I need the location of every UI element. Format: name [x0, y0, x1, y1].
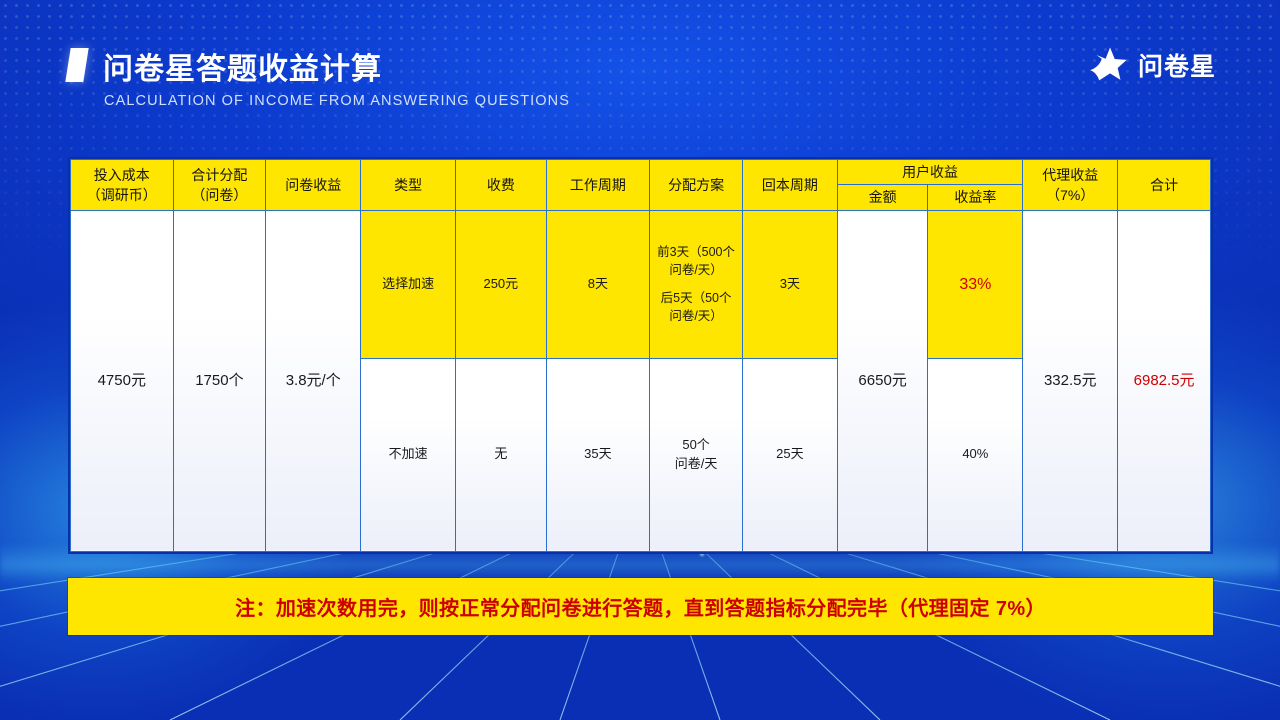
th-agent-income-line2: （7%） — [1046, 187, 1094, 203]
th-work-cycle: 工作周期 — [546, 160, 650, 211]
th-user-income-rate: 收益率 — [928, 185, 1023, 210]
th-user-income-group: 用户收益 — [837, 160, 1022, 185]
table-header-row-1: 投入成本 （调研币） 合计分配 （问卷） 问卷收益 类型 收费 工作周期 分配方… — [71, 160, 1211, 185]
title-accent-bar — [65, 48, 88, 82]
cell-payback-cycle-normal: 25天 — [742, 358, 837, 551]
alloc-plan-normal-line-1: 50个 — [653, 436, 739, 455]
cell-user-income-amount: 6650元 — [837, 210, 928, 551]
th-survey-income: 问卷收益 — [266, 160, 361, 211]
th-agent-income: 代理收益 （7%） — [1023, 160, 1118, 211]
alloc-plan-line-2: 问卷/天） — [653, 261, 739, 279]
alloc-plan-line-4: 问卷/天） — [653, 307, 739, 325]
cell-total-alloc: 1750个 — [173, 210, 266, 551]
footer-note-text: 注：加速次数用完，则按正常分配问卷进行答题，直到答题指标分配完毕（代理固定 7%… — [235, 592, 1046, 621]
th-total-alloc: 合计分配 （问卷） — [173, 160, 266, 211]
cell-work-cycle-accelerated: 8天 — [546, 210, 650, 358]
alloc-plan-line-1: 前3天（500个 — [653, 243, 739, 261]
cell-alloc-plan-accelerated: 前3天（500个 问卷/天） 后5天（50个 问卷/天） — [650, 210, 743, 358]
cell-income-rate-accelerated: 33% — [928, 210, 1023, 358]
income-table: 投入成本 （调研币） 合计分配 （问卷） 问卷收益 类型 收费 工作周期 分配方… — [70, 159, 1211, 552]
cell-agent-income: 332.5元 — [1023, 210, 1118, 551]
footer-note-bar: 注：加速次数用完，则按正常分配问卷进行答题，直到答题指标分配完毕（代理固定 7%… — [68, 578, 1213, 635]
cell-survey-income: 3.8元/个 — [266, 210, 361, 551]
th-cost-line1: 投入成本 — [94, 167, 150, 183]
th-agent-income-line1: 代理收益 — [1042, 167, 1098, 183]
th-total: 合计 — [1118, 160, 1211, 211]
th-cost-line2: （调研币） — [87, 187, 157, 203]
cell-fee-accelerated: 250元 — [456, 210, 547, 358]
th-user-income-amount: 金额 — [837, 185, 928, 210]
cell-type-accelerated: 选择加速 — [361, 210, 456, 358]
income-table-container: 投入成本 （调研币） 合计分配 （问卷） 问卷收益 类型 收费 工作周期 分配方… — [68, 157, 1213, 554]
cell-cost: 4750元 — [71, 210, 174, 551]
alloc-plan-line-3: 后5天（50个 — [653, 289, 739, 307]
cell-type-normal: 不加速 — [361, 358, 456, 551]
star-icon — [1086, 44, 1128, 86]
table-body: 4750元 1750个 3.8元/个 选择加速 250元 8天 前3天（500个… — [71, 210, 1211, 551]
alloc-plan-normal-line-2: 问卷/天 — [653, 455, 739, 474]
th-total-alloc-line1: 合计分配 — [191, 167, 247, 183]
cell-alloc-plan-normal: 50个 问卷/天 — [650, 358, 743, 551]
star-icon-svg — [1086, 44, 1128, 86]
table-header: 投入成本 （调研币） 合计分配 （问卷） 问卷收益 类型 收费 工作周期 分配方… — [71, 160, 1211, 211]
cell-total: 6982.5元 — [1118, 210, 1211, 551]
cell-work-cycle-normal: 35天 — [546, 358, 650, 551]
cell-income-rate-normal: 40% — [928, 358, 1023, 551]
th-type: 类型 — [361, 160, 456, 211]
page-title: 问卷星答题收益计算 — [103, 44, 382, 88]
th-alloc-plan: 分配方案 — [650, 160, 743, 211]
slide-header: 问卷星答题收益计算 CALCULATION OF INCOME FROM ANS… — [0, 0, 1280, 140]
table-row-accelerated: 4750元 1750个 3.8元/个 选择加速 250元 8天 前3天（500个… — [71, 210, 1211, 358]
cell-payback-cycle-accelerated: 3天 — [742, 210, 837, 358]
page-subtitle: CALCULATION OF INCOME FROM ANSWERING QUE… — [104, 93, 570, 109]
th-total-alloc-line2: （问卷） — [191, 187, 247, 203]
th-fee: 收费 — [456, 160, 547, 211]
cell-fee-normal: 无 — [456, 358, 547, 551]
alloc-plan-spacer — [653, 279, 739, 289]
th-payback-cycle: 回本周期 — [742, 160, 837, 211]
brand-name: 问卷星 — [1138, 47, 1216, 83]
th-cost: 投入成本 （调研币） — [71, 160, 174, 211]
brand-logo: 问卷星 — [1086, 44, 1216, 86]
